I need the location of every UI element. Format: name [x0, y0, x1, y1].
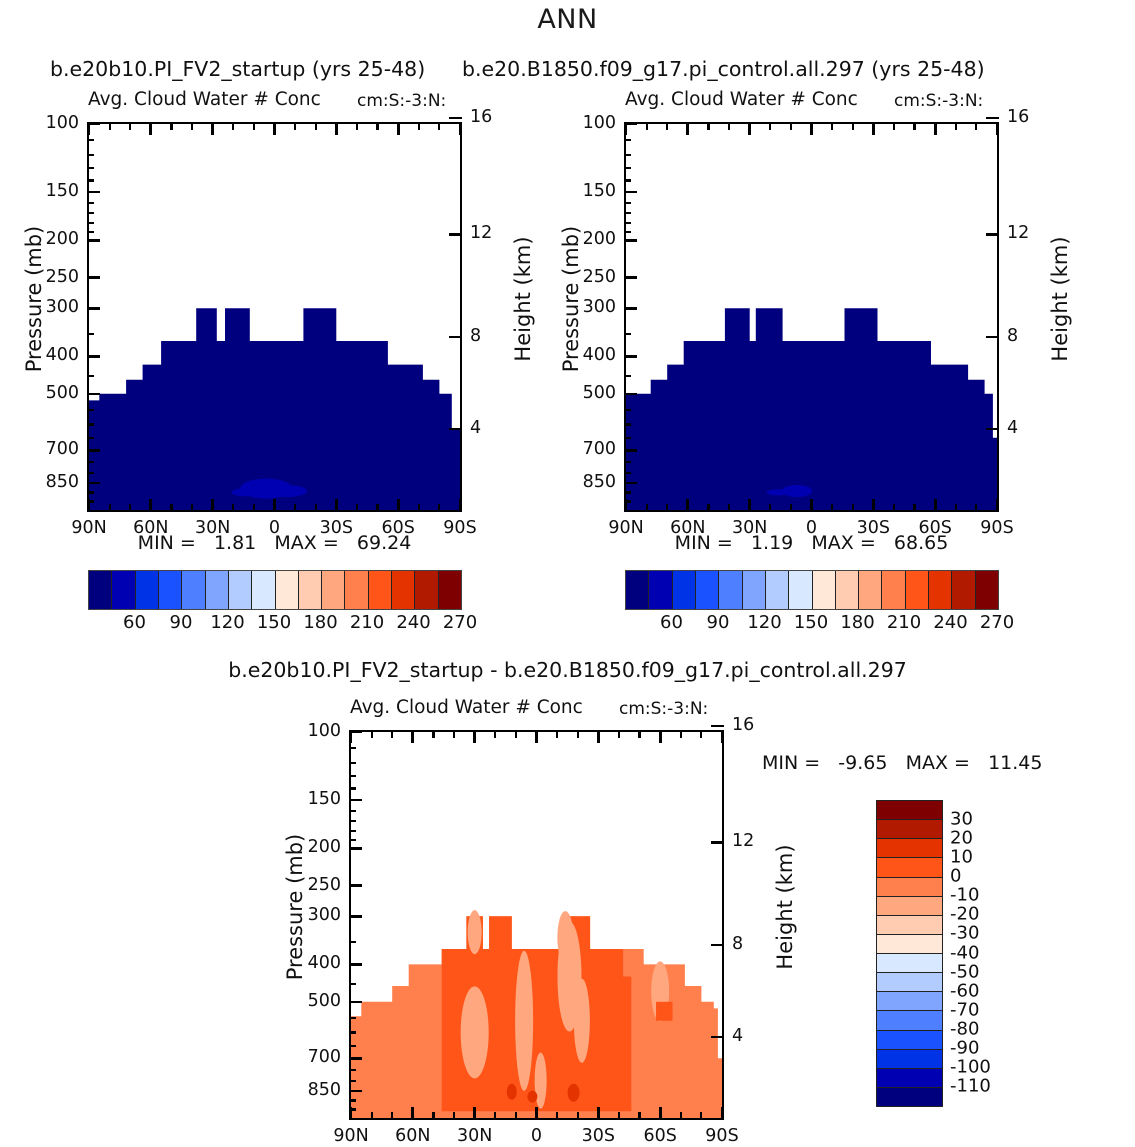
colorbar-cell	[276, 571, 299, 609]
pressure-minor-tick	[87, 409, 94, 411]
latitude-tick	[315, 504, 317, 512]
pressure-minor-tick	[624, 491, 631, 493]
contour-band-0-60	[626, 308, 997, 510]
latitude-tick	[646, 504, 648, 512]
contour-band-60-90	[767, 489, 791, 495]
test-case-title: b.e20b10.PI_FV2_startup (yrs 25-48)	[50, 57, 425, 81]
latitude-tick	[294, 504, 296, 512]
pressure-minor-tick	[87, 202, 94, 204]
latitude-tick-top	[371, 730, 373, 738]
difference-colorbar-labels: 3020100-10-20-30-40-50-60-70-80-90-100-1…	[946, 800, 1026, 1105]
colorbar-cell	[206, 571, 229, 609]
height-tick-label: 12	[470, 223, 492, 243]
colorbar-cell	[877, 935, 942, 954]
pressure-minor-tick	[624, 333, 631, 335]
pressure-minor-tick	[87, 222, 94, 224]
pressure-minor-tick	[624, 461, 631, 463]
pressure-minor-tick	[349, 1099, 356, 1101]
colorbar-cell	[877, 954, 942, 973]
test-colorbar-labels: 6090120150180210240270	[88, 612, 460, 638]
latitude-tick-top	[646, 122, 648, 130]
height-tick-label: 4	[1007, 418, 1018, 438]
pressure-minor-tick	[87, 461, 94, 463]
latitude-tick	[748, 499, 751, 512]
control-plot-area	[624, 122, 999, 512]
contour-band-10-20	[656, 1002, 672, 1021]
colorbar-tick-label: 30	[950, 809, 973, 830]
latitude-tick-top	[335, 122, 338, 135]
pressure-minor-tick	[349, 983, 356, 985]
latitude-tick	[253, 504, 255, 512]
pressure-tick-label: 300	[27, 297, 79, 317]
pressure-minor-tick	[624, 167, 631, 169]
colorbar-tick-label: 270	[443, 612, 477, 633]
control-contour-field	[626, 124, 997, 510]
colorbar-cell	[929, 571, 952, 609]
latitude-tick-label: 30S	[306, 518, 366, 538]
latitude-tick-top	[700, 730, 702, 738]
pressure-tick	[624, 449, 637, 452]
pressure-tick-label: 250	[289, 875, 341, 895]
latitude-tick-top	[721, 730, 724, 743]
latitude-tick	[769, 504, 771, 512]
pressure-minor-tick	[624, 472, 631, 474]
colorbar-cell	[322, 571, 345, 609]
colorbar-cell	[877, 878, 942, 897]
difference-max-value: 11.45	[988, 752, 1042, 774]
latitude-tick-top	[790, 122, 792, 130]
difference-plot-area	[349, 730, 724, 1120]
difference-max-label: MAX =	[906, 752, 970, 774]
colorbar-tick-label: 90	[707, 612, 730, 633]
latitude-tick	[418, 504, 420, 512]
latitude-tick	[852, 504, 854, 512]
pressure-tick-label: 300	[289, 905, 341, 925]
latitude-tick	[638, 1112, 640, 1120]
latitude-tick-top	[253, 122, 255, 130]
pressure-minor-tick	[87, 154, 94, 156]
pressure-tick	[87, 239, 100, 242]
height-tick	[711, 725, 724, 728]
height-tick	[449, 336, 462, 339]
pressure-tick-label: 100	[289, 721, 341, 741]
latitude-tick-top	[356, 122, 358, 130]
latitude-tick-top	[659, 730, 662, 743]
pressure-minor-tick	[624, 202, 631, 204]
latitude-tick	[913, 504, 915, 512]
pressure-minor-tick	[87, 139, 94, 141]
pressure-tick	[349, 963, 362, 966]
height-tick-label: 8	[1007, 326, 1018, 346]
height-tick	[986, 336, 999, 339]
pressure-tick-label: 150	[564, 181, 616, 201]
latitude-tick	[335, 499, 338, 512]
latitude-tick-top	[556, 730, 558, 738]
pressure-tick	[87, 482, 100, 485]
colorbar-tick-label: -30	[950, 923, 979, 944]
latitude-tick-top	[893, 122, 895, 130]
latitude-tick	[397, 499, 400, 512]
pressure-tick	[87, 276, 100, 279]
pressure-tick	[624, 191, 637, 194]
pressure-tick	[624, 239, 637, 242]
colorbar-cell	[626, 571, 649, 609]
pressure-tick	[349, 1090, 362, 1093]
colorbar-tick-label: 210	[350, 612, 384, 633]
pressure-tick-label: 200	[564, 229, 616, 249]
contour-band-20-30	[568, 1084, 580, 1102]
colorbar-tick-label: 60	[660, 612, 683, 633]
colorbar-cell	[136, 571, 159, 609]
pressure-tick	[624, 355, 637, 358]
contour-band-20-30	[527, 1091, 537, 1103]
height-tick	[986, 117, 999, 120]
latitude-tick	[721, 1107, 724, 1120]
colorbar-cell	[859, 571, 882, 609]
latitude-tick-top	[625, 122, 628, 135]
latitude-tick-top	[315, 122, 317, 130]
latitude-tick-top	[515, 730, 517, 738]
pressure-tick	[87, 355, 100, 358]
colorbar-tick-label: 240	[396, 612, 430, 633]
latitude-tick-top	[597, 730, 600, 743]
colorbar-cell	[439, 571, 461, 609]
latitude-tick	[459, 499, 462, 512]
pressure-tick-label: 700	[27, 439, 79, 459]
pressure-tick-label: 100	[564, 113, 616, 133]
latitude-tick	[232, 504, 234, 512]
colorbar-tick-label: -70	[950, 999, 979, 1020]
pressure-minor-tick	[349, 1080, 356, 1082]
pressure-tick	[624, 482, 637, 485]
latitude-tick	[831, 504, 833, 512]
pressure-minor-tick	[349, 1017, 356, 1019]
latitude-tick	[975, 504, 977, 512]
colorbar-cell	[696, 571, 719, 609]
latitude-tick-label: 60S	[905, 518, 965, 538]
contour-band-minus10-0	[515, 951, 533, 1091]
colorbar-tick-label: -50	[950, 961, 979, 982]
latitude-tick-top	[149, 122, 152, 135]
latitude-tick-top	[666, 122, 668, 130]
season-title: ANN	[0, 4, 1135, 35]
latitude-tick	[556, 1112, 558, 1120]
latitude-tick-label: 90N	[321, 1126, 381, 1146]
pressure-tick-label: 250	[27, 267, 79, 287]
colorbar-tick-label: -80	[950, 1018, 979, 1039]
test-units-title: cm:S:-3:N:	[357, 91, 446, 111]
colorbar-cell	[392, 571, 415, 609]
pressure-minor-tick	[87, 231, 94, 233]
latitude-tick-top	[411, 730, 414, 743]
latitude-tick-top	[211, 122, 214, 135]
colorbar-tick-label: -90	[950, 1037, 979, 1058]
latitude-tick-top	[391, 730, 393, 738]
pressure-minor-tick	[349, 1069, 356, 1071]
colorbar-tick-label: 240	[933, 612, 967, 633]
latitude-tick	[350, 1107, 353, 1120]
latitude-tick-top	[996, 122, 999, 135]
latitude-tick	[376, 504, 378, 512]
latitude-tick-top	[707, 122, 709, 130]
latitude-tick-top	[494, 730, 496, 738]
colorbar-cell	[877, 801, 942, 820]
contour-band-20-30	[507, 1084, 517, 1100]
colorbar-tick-label: -40	[950, 942, 979, 963]
pressure-tick	[349, 799, 362, 802]
latitude-tick-label: 60N	[658, 518, 718, 538]
latitude-tick-top	[872, 122, 875, 135]
pressure-tick	[624, 307, 637, 310]
colorbar-cell	[415, 571, 438, 609]
latitude-tick	[473, 1107, 476, 1120]
latitude-tick	[810, 499, 813, 512]
latitude-tick-top	[810, 122, 813, 135]
latitude-tick	[391, 1112, 393, 1120]
colorbar-tick-label: 20	[950, 828, 973, 849]
latitude-tick-top	[397, 122, 400, 135]
pressure-minor-tick	[349, 1031, 356, 1033]
latitude-tick	[618, 1112, 620, 1120]
latitude-tick-label: 60S	[630, 1126, 690, 1146]
pressure-minor-tick	[624, 231, 631, 233]
latitude-tick-top	[638, 730, 640, 738]
colorbar-cell	[877, 1050, 942, 1069]
latitude-tick-label: 0	[507, 1126, 567, 1146]
latitude-tick	[707, 504, 709, 512]
colorbar-tick-label: -20	[950, 904, 979, 925]
latitude-tick-top	[728, 122, 730, 130]
latitude-tick-top	[748, 122, 751, 135]
latitude-tick-label: 90N	[59, 518, 119, 538]
colorbar-cell	[877, 1031, 942, 1050]
height-tick-label: 4	[470, 418, 481, 438]
latitude-tick	[129, 504, 131, 512]
pressure-minor-tick	[87, 333, 94, 335]
colorbar-cell	[877, 973, 942, 992]
colorbar-cell	[906, 571, 929, 609]
pressure-minor-tick	[87, 491, 94, 493]
colorbar-cell	[877, 1088, 942, 1106]
colorbar-cell	[877, 897, 942, 916]
pressure-tick	[87, 307, 100, 310]
pressure-tick-label: 150	[27, 181, 79, 201]
pressure-minor-tick	[624, 222, 631, 224]
latitude-tick	[790, 504, 792, 512]
height-tick	[711, 944, 724, 947]
colorbar-tick-label: 150	[794, 612, 828, 633]
pressure-tick-label: 400	[27, 345, 79, 365]
latitude-tick-top	[831, 122, 833, 130]
pressure-minor-tick	[87, 423, 94, 425]
difference-case-title: b.e20b10.PI_FV2_startup - b.e20.B1850.f0…	[0, 658, 1135, 682]
colorbar-cell	[836, 571, 859, 609]
latitude-tick	[191, 504, 193, 512]
height-tick-label: 8	[470, 326, 481, 346]
colorbar-cell	[673, 571, 696, 609]
pressure-minor-tick	[87, 375, 94, 377]
height-tick	[711, 841, 724, 844]
height-tick	[449, 428, 462, 431]
height-tick	[986, 233, 999, 236]
latitude-tick-label: 90S	[692, 1126, 752, 1146]
colorbar-cell	[877, 916, 942, 935]
pressure-minor-tick	[624, 212, 631, 214]
pressure-tick-label: 700	[289, 1047, 341, 1067]
pressure-minor-tick	[349, 775, 356, 777]
pressure-tick-label: 400	[564, 345, 616, 365]
colorbar-cell	[299, 571, 322, 609]
colorbar-cell	[89, 571, 112, 609]
pressure-minor-tick	[349, 762, 356, 764]
latitude-tick	[597, 1107, 600, 1120]
colorbar-tick-label: 270	[980, 612, 1014, 633]
height-tick	[449, 233, 462, 236]
latitude-tick-top	[453, 730, 455, 738]
colorbar-cell	[877, 1069, 942, 1088]
pressure-minor-tick	[624, 423, 631, 425]
difference-variable-title: Avg. Cloud Water # Conc	[350, 697, 583, 718]
colorbar-tick-label: -100	[950, 1056, 991, 1077]
latitude-tick-label: 90S	[967, 518, 1027, 538]
pressure-minor-tick	[87, 179, 94, 181]
test-plot-area	[87, 122, 462, 512]
colorbar-tick-label: -60	[950, 980, 979, 1001]
latitude-tick-label: 30N	[183, 518, 243, 538]
difference-contour-field	[351, 732, 722, 1118]
pressure-minor-tick	[87, 167, 94, 169]
difference-minmax: MIN = -9.65 MAX = 11.45	[762, 752, 1043, 774]
latitude-tick	[149, 499, 152, 512]
height-tick	[711, 1036, 724, 1039]
difference-min-value: -9.65	[838, 752, 887, 774]
pressure-minor-tick	[349, 1045, 356, 1047]
latitude-tick	[535, 1107, 538, 1120]
colorbar-cell	[743, 571, 766, 609]
colorbar-cell	[952, 571, 975, 609]
colorbar-cell	[229, 571, 252, 609]
pressure-tick	[87, 393, 100, 396]
colorbar-tick-label: -10	[950, 885, 979, 906]
latitude-tick	[411, 1107, 414, 1120]
colorbar-cell	[877, 858, 942, 877]
control-units-title: cm:S:-3:N:	[894, 91, 983, 111]
latitude-tick-top	[129, 122, 131, 130]
latitude-tick-top	[913, 122, 915, 130]
pressure-tick	[349, 1001, 362, 1004]
test-contour-field	[89, 124, 460, 510]
colorbar-tick-label: 120	[210, 612, 244, 633]
latitude-tick-top	[680, 730, 682, 738]
colorbar-cell	[649, 571, 672, 609]
contour-band-minus10-0	[557, 911, 573, 963]
latitude-tick	[659, 1107, 662, 1120]
pressure-tick-label: 200	[27, 229, 79, 249]
latitude-tick-top	[535, 730, 538, 743]
latitude-tick-label: 60S	[368, 518, 428, 538]
latitude-tick	[371, 1112, 373, 1120]
pressure-tick-label: 850	[564, 472, 616, 492]
latitude-tick-top	[618, 730, 620, 738]
pressure-minor-tick	[349, 839, 356, 841]
pressure-minor-tick	[624, 179, 631, 181]
latitude-tick	[577, 1112, 579, 1120]
latitude-tick-top	[934, 122, 937, 135]
colorbar-tick-label: 60	[123, 612, 146, 633]
pressure-minor-tick	[624, 409, 631, 411]
latitude-tick-top	[418, 122, 420, 130]
latitude-tick	[996, 499, 999, 512]
pressure-minor-tick	[624, 154, 631, 156]
latitude-tick	[170, 504, 172, 512]
contour-band-minus10-0	[468, 910, 482, 954]
latitude-tick-top	[191, 122, 193, 130]
height-tick-label: 16	[470, 107, 492, 127]
contour-band-60-90	[232, 488, 260, 496]
latitude-tick-top	[852, 122, 854, 130]
latitude-tick-top	[376, 122, 378, 130]
height-tick-label: 16	[732, 715, 754, 735]
pressure-tick-label: 500	[289, 991, 341, 1011]
difference-min-label: MIN =	[762, 752, 820, 774]
latitude-tick	[438, 504, 440, 512]
contour-band-minus10-0	[535, 1053, 547, 1109]
test-height-axis-label: Height (km)	[511, 219, 535, 379]
colorbar-cell	[789, 571, 812, 609]
latitude-tick-label: 0	[782, 518, 842, 538]
colorbar-cell	[877, 820, 942, 839]
colorbar-tick-label: 180	[303, 612, 337, 633]
latitude-tick-label: 60N	[383, 1126, 443, 1146]
pressure-minor-tick	[624, 139, 631, 141]
pressure-tick-label: 250	[564, 267, 616, 287]
pressure-minor-tick	[624, 437, 631, 439]
latitude-tick-top	[473, 730, 476, 743]
latitude-tick-top	[432, 730, 434, 738]
colorbar-tick-label: 210	[887, 612, 921, 633]
pressure-tick	[349, 847, 362, 850]
latitude-tick-top	[459, 122, 462, 135]
latitude-tick-top	[294, 122, 296, 130]
colorbar-cell	[719, 571, 742, 609]
latitude-tick	[680, 1112, 682, 1120]
control-case-title: b.e20.B1850.f09_g17.pi_control.all.297 (…	[462, 57, 985, 81]
latitude-tick-top	[577, 730, 579, 738]
pressure-tick-label: 850	[289, 1080, 341, 1100]
latitude-tick	[109, 504, 111, 512]
height-tick	[449, 117, 462, 120]
pressure-minor-tick	[349, 820, 356, 822]
pressure-minor-tick	[349, 830, 356, 832]
latitude-tick-label: 90S	[430, 518, 490, 538]
latitude-tick	[955, 504, 957, 512]
latitude-tick-top	[769, 122, 771, 130]
height-tick-label: 12	[1007, 223, 1029, 243]
latitude-tick	[872, 499, 875, 512]
colorbar-tick-label: 120	[747, 612, 781, 633]
latitude-tick-top	[686, 122, 689, 135]
pressure-minor-tick	[349, 941, 356, 943]
pressure-tick-label: 300	[564, 297, 616, 317]
latitude-tick	[88, 499, 91, 512]
pressure-minor-tick	[87, 212, 94, 214]
height-tick-label: 16	[1007, 107, 1029, 127]
latitude-tick-label: 30N	[720, 518, 780, 538]
colorbar-tick-label: 180	[840, 612, 874, 633]
latitude-tick	[625, 499, 628, 512]
latitude-tick	[453, 1112, 455, 1120]
difference-colorbar	[876, 800, 943, 1107]
